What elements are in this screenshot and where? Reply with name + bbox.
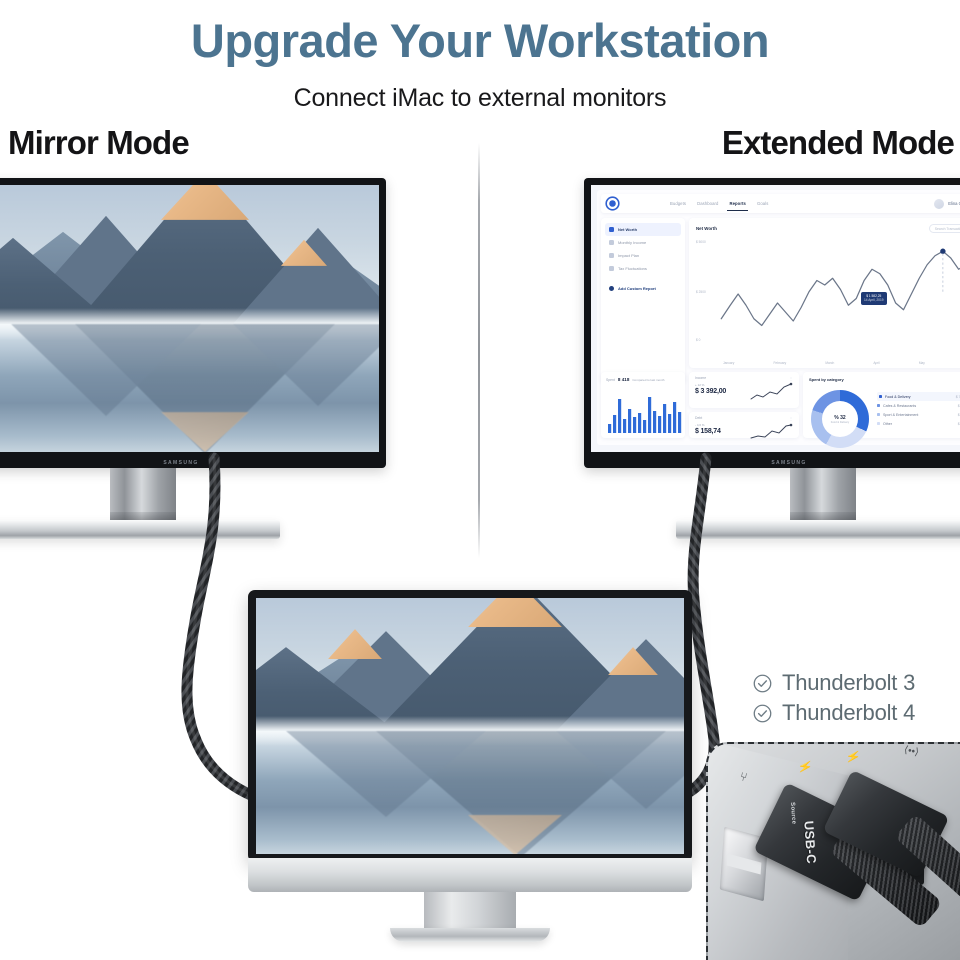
income-stat-card: Income ⋮ + 12 % $ 3 392,00 — [689, 372, 799, 408]
sidebar-item-add-custom-report[interactable]: Add Custom Report — [605, 282, 681, 295]
right-monitor-screen: Budgets Dashboard Reports Goals Elina Gi… — [591, 185, 960, 452]
left-monitor-stand-neck — [110, 468, 176, 526]
right-monitor-brand: SAMSUNG — [584, 460, 960, 466]
feature-thunderbolt-4: Thunderbolt 4 — [752, 698, 915, 728]
tab-budgets[interactable]: Budgets — [670, 201, 686, 206]
chart-card-title: Net Worth — [696, 226, 717, 231]
sidebar-item-net-worth[interactable]: Net Worth — [605, 223, 681, 236]
sidebar-item-tax-fluctuations[interactable]: Tax Fluctuations — [605, 262, 681, 275]
donut-legend: Food & Delivery $ 762,10 Cafes & Restaur… — [877, 392, 960, 428]
legend-label: Other — [883, 422, 892, 426]
search-input[interactable]: Search Transaction — [929, 224, 960, 233]
tooltip-date: 14 April, 2019 — [864, 298, 884, 302]
bars-card-amount: 8 418 — [618, 377, 630, 382]
ethernet-icon: ⟨••⟩ — [903, 745, 920, 759]
dashboard-topbar: Budgets Dashboard Reports Goals Elina Gi… — [601, 194, 960, 213]
x-tick-3: April — [873, 361, 879, 365]
right-monitor-stand-base — [676, 520, 960, 539]
sidebar-item-label: Tax Fluctuations — [618, 266, 647, 271]
legend-item: Other $ 166,90 — [877, 419, 960, 428]
feature-thunderbolt-3: Thunderbolt 3 — [752, 668, 915, 698]
sidebar-item-label: Net Worth — [618, 227, 637, 232]
income-sparkline — [750, 382, 794, 402]
legend-swatch — [877, 422, 880, 425]
x-tick-0: January — [723, 361, 734, 365]
feature-label: Thunderbolt 3 — [782, 670, 915, 696]
imac-screen — [256, 598, 684, 854]
left-monitor-wallpaper — [0, 185, 379, 452]
legend-item: Cafes & Restaurants $ 433,40 — [877, 401, 960, 410]
sidebar-item-monthly-income[interactable]: Monthly Income — [605, 236, 681, 249]
finance-dashboard: Budgets Dashboard Reports Goals Elina Gi… — [591, 185, 960, 452]
legend-value: $ 762,10 — [956, 395, 960, 399]
more-icon[interactable]: ⋮ — [789, 416, 793, 421]
y-tick-0: $ 5000 — [696, 240, 706, 244]
sidebar-item-label: Add Custom Report — [618, 286, 656, 291]
plus-circle-icon — [609, 286, 614, 291]
list-icon — [609, 266, 614, 271]
net-worth-line-chart — [719, 240, 960, 348]
spent-bar-chart — [606, 393, 684, 433]
donut-card-title: Spent by category — [809, 377, 844, 382]
legend-label: Cafes & Restaurants — [883, 404, 916, 408]
imac-stand-base — [390, 928, 550, 942]
legend-swatch — [877, 413, 880, 416]
legend-item: Food & Delivery $ 762,10 — [877, 392, 960, 401]
imac-frame — [248, 590, 692, 862]
dock-connector-inset: ⑂ ⚡ ⚡ ⟨••⟩ USB-C Source — [706, 742, 960, 960]
thunderbolt-icon: ⚡ — [845, 749, 863, 766]
left-monitor-screen — [0, 185, 379, 452]
tab-goals[interactable]: Goals — [757, 201, 768, 206]
avatar — [934, 199, 944, 209]
user-menu[interactable]: Elina Gilbert — [934, 199, 960, 209]
dashboard-tabs: Budgets Dashboard Reports Goals — [670, 201, 768, 206]
sidebar-item-label: Impact Plan — [618, 253, 639, 258]
user-name: Elina Gilbert — [948, 201, 960, 206]
more-icon[interactable]: ⋮ — [789, 376, 793, 381]
net-worth-chart-card: Net Worth Search Transaction $ 5000 $ 25… — [689, 218, 960, 368]
bars-card-title: Spent — [606, 378, 615, 382]
spent-by-category-card: Spent by category ⋮ % 32 Food & Delivery — [803, 372, 960, 438]
donut-center-label: Food & Delivery — [831, 421, 849, 424]
x-axis: January February March April May June — [723, 361, 960, 365]
tab-reports[interactable]: Reports — [729, 201, 746, 206]
app-logo-icon — [607, 198, 618, 209]
feature-list: Thunderbolt 3 Thunderbolt 4 — [752, 668, 915, 728]
stat-label: Debt — [695, 416, 702, 421]
donut-chart: % 32 Food & Delivery — [811, 390, 869, 448]
legend-item: Sport & Entertainment $ 288,05 — [877, 410, 960, 419]
legend-swatch — [877, 404, 880, 407]
thunderbolt-icon: ⚡ — [797, 759, 815, 776]
list-icon — [609, 240, 614, 245]
legend-label: Food & Delivery — [885, 395, 911, 399]
dashboard-sidebar: Net Worth Monthly Income Impact Plan — [601, 218, 685, 383]
feature-label: Thunderbolt 4 — [782, 700, 915, 726]
imac-chin — [248, 858, 692, 892]
page-subtitle: Connect iMac to external monitors — [0, 84, 960, 113]
product-infographic: Upgrade Your Workstation Connect iMac to… — [0, 0, 960, 960]
y-tick-1: $ 2500 — [696, 290, 706, 294]
usb-c-label: USB-C — [801, 820, 819, 864]
legend-label: Sport & Entertainment — [883, 413, 918, 417]
extended-mode-label: Extended Mode — [722, 124, 954, 162]
sidebar-item-label: Monthly Income — [618, 240, 646, 245]
x-tick-4: May — [919, 361, 925, 365]
list-icon — [609, 253, 614, 258]
bars-card-subtitle: Compared to last month — [632, 378, 664, 382]
list-icon — [609, 227, 614, 232]
mirror-mode-label: Mirror Mode — [8, 124, 189, 162]
section-divider — [478, 143, 480, 558]
right-monitor-stand-neck — [790, 468, 856, 526]
spent-bars-card: Spent 8 418 Compared to last month — [601, 372, 685, 438]
legend-swatch — [879, 395, 882, 398]
debt-stat-card: Debt ⋮ - 4,6 % $ 158,74 — [689, 412, 799, 438]
left-monitor-stand-base — [0, 520, 280, 539]
x-tick-1: February — [773, 361, 786, 365]
imac-stand-neck — [424, 892, 516, 932]
page-title: Upgrade Your Workstation — [0, 16, 960, 65]
check-circle-icon — [752, 703, 773, 724]
stat-label: Income — [695, 376, 706, 381]
left-monitor-brand: SAMSUNG — [0, 460, 386, 466]
check-circle-icon — [752, 673, 773, 694]
imac-wallpaper — [256, 598, 684, 854]
x-tick-2: March — [825, 361, 834, 365]
debt-sparkline — [750, 422, 794, 442]
y-tick-2: $ 0 — [696, 338, 700, 342]
chart-tooltip: $ 1 582,25 14 April, 2019 — [861, 292, 887, 305]
sidebar-item-impact-plan[interactable]: Impact Plan — [605, 249, 681, 262]
source-label: Source — [789, 802, 797, 825]
tab-dashboard[interactable]: Dashboard — [697, 201, 718, 206]
